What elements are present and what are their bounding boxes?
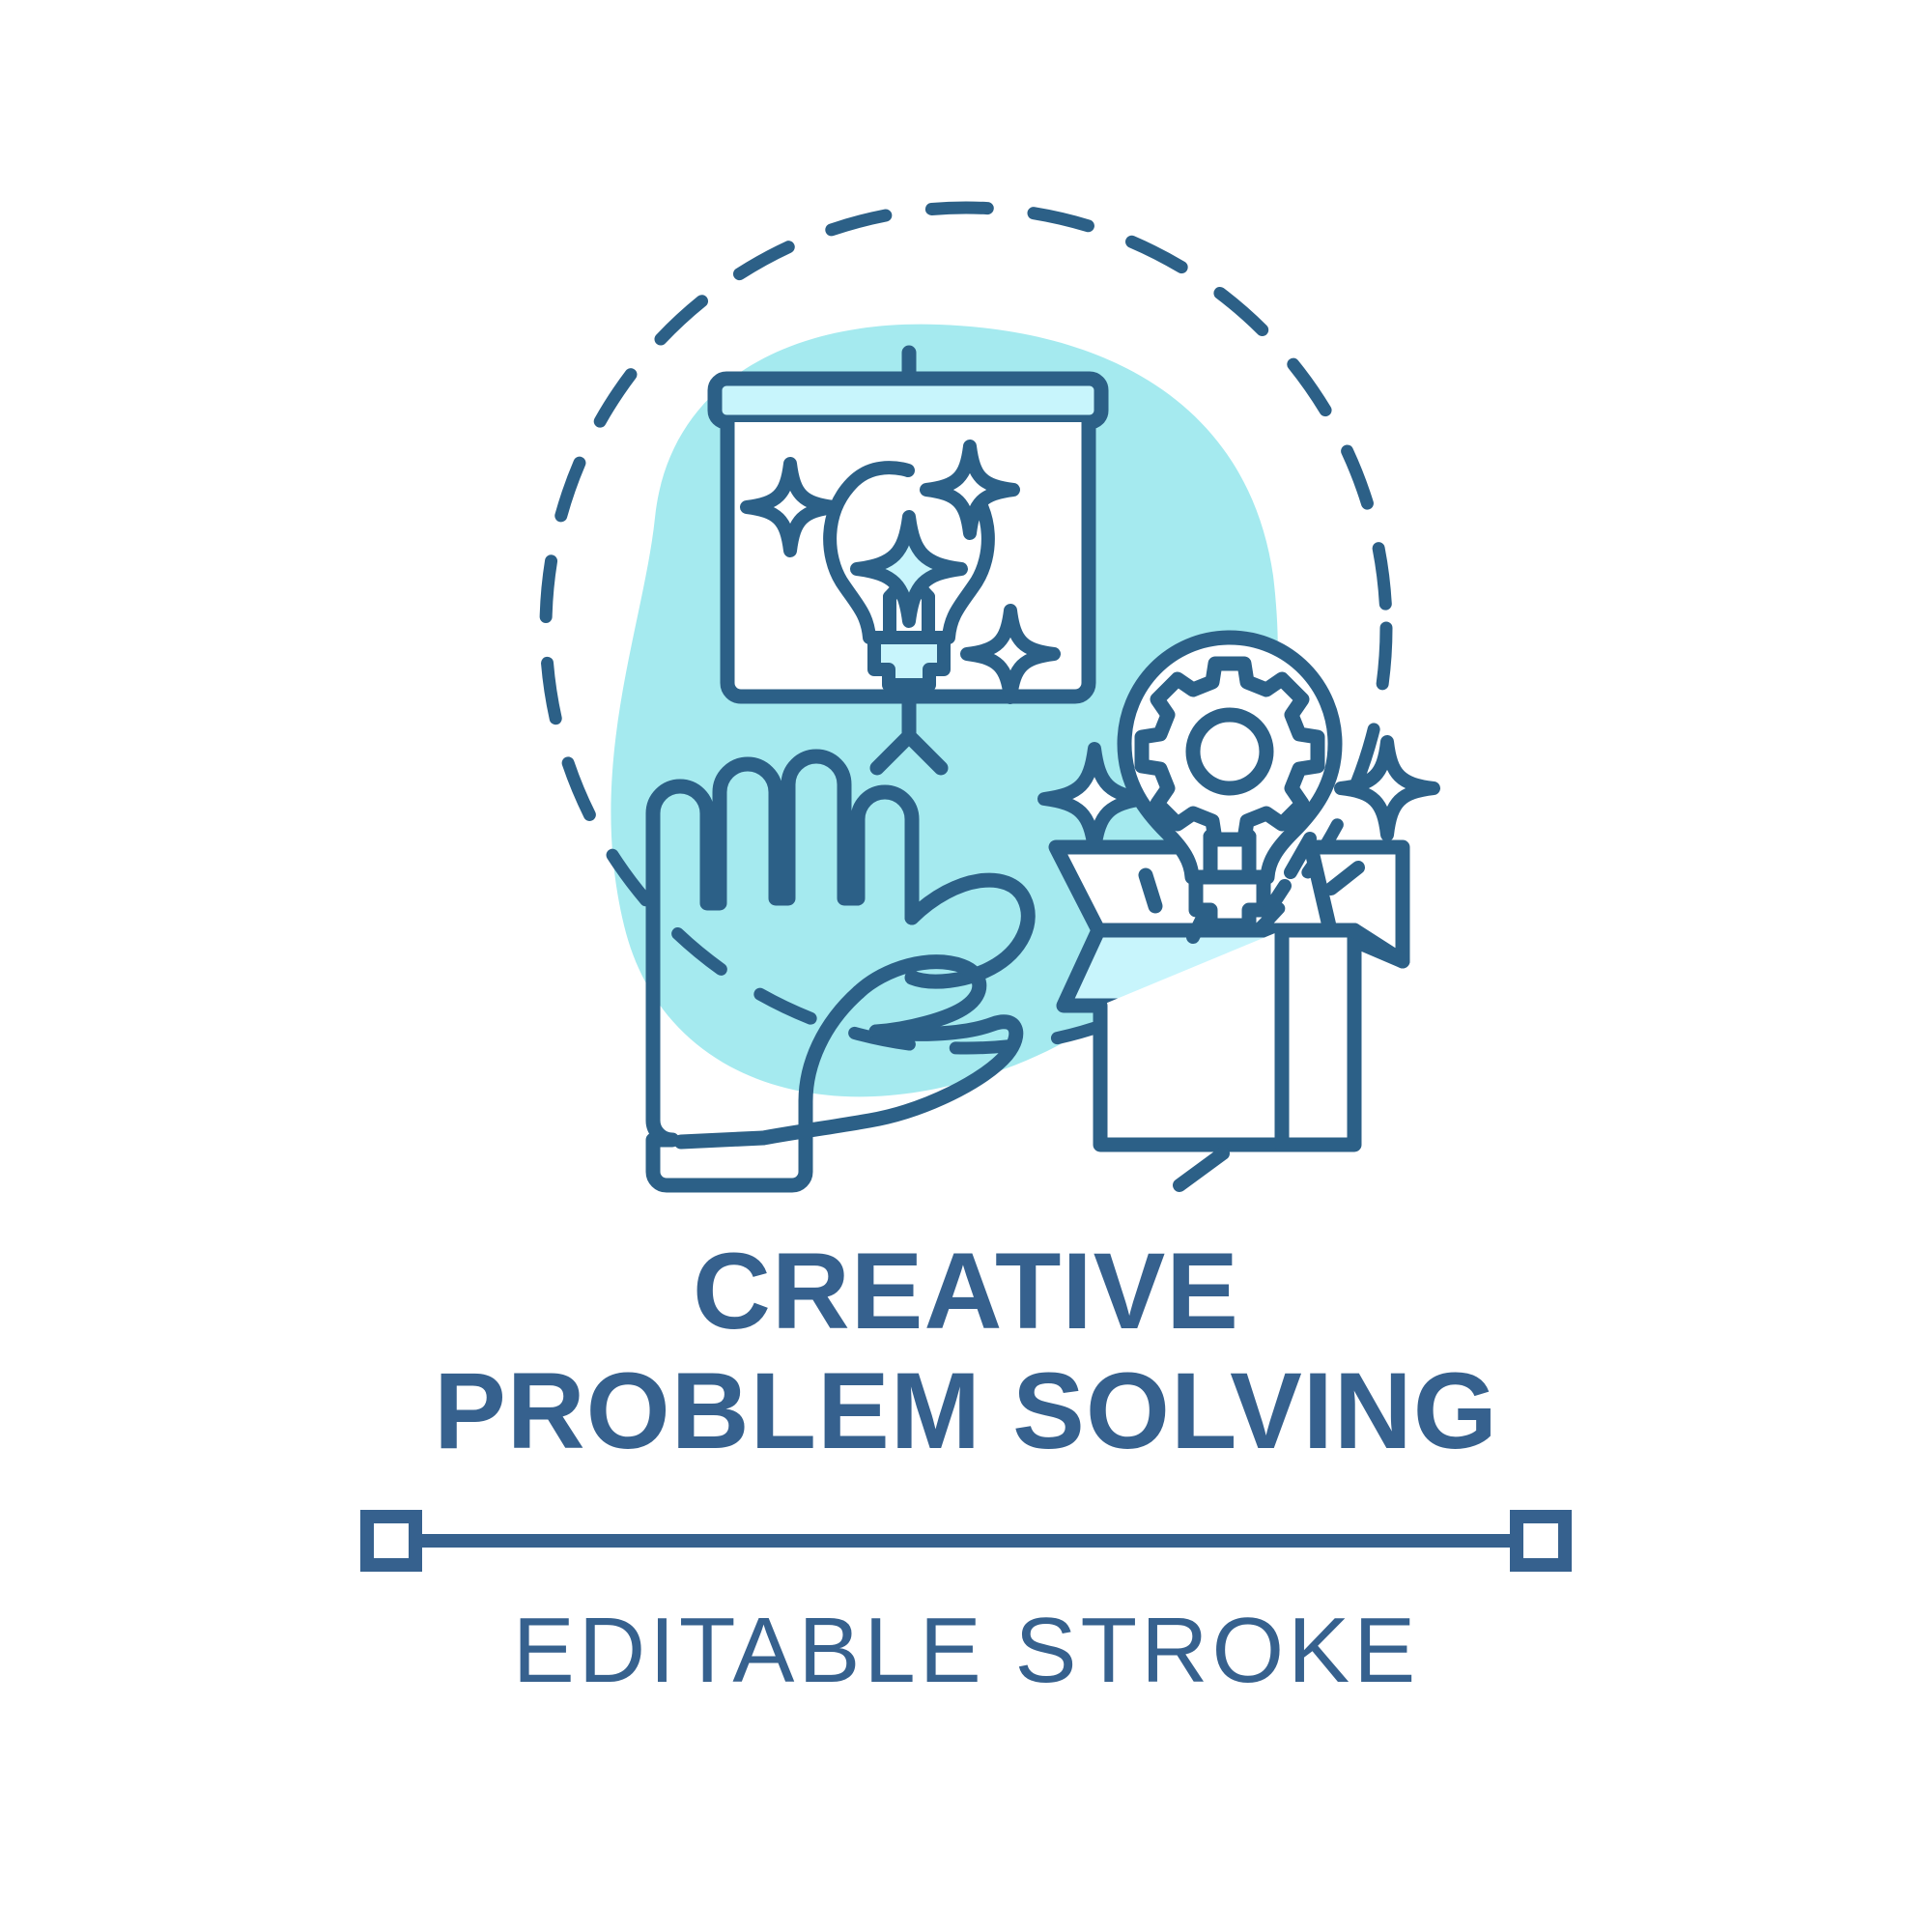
title-line-1: CREATIVE — [0, 1236, 1932, 1347]
illustration-area — [0, 0, 1932, 1246]
divider-right-cap — [1517, 1517, 1565, 1565]
divider-left-cap — [367, 1517, 415, 1565]
subtitle-editable-stroke: EDITABLE STROKE — [0, 1598, 1932, 1704]
stroke-width-indicator — [357, 1507, 1575, 1575]
concept-icon-card: CREATIVE PROBLEM SOLVING EDITABLE STROKE — [0, 0, 1932, 1932]
title-block: CREATIVE PROBLEM SOLVING — [0, 1236, 1932, 1466]
title-line-2: PROBLEM SOLVING — [0, 1356, 1932, 1466]
